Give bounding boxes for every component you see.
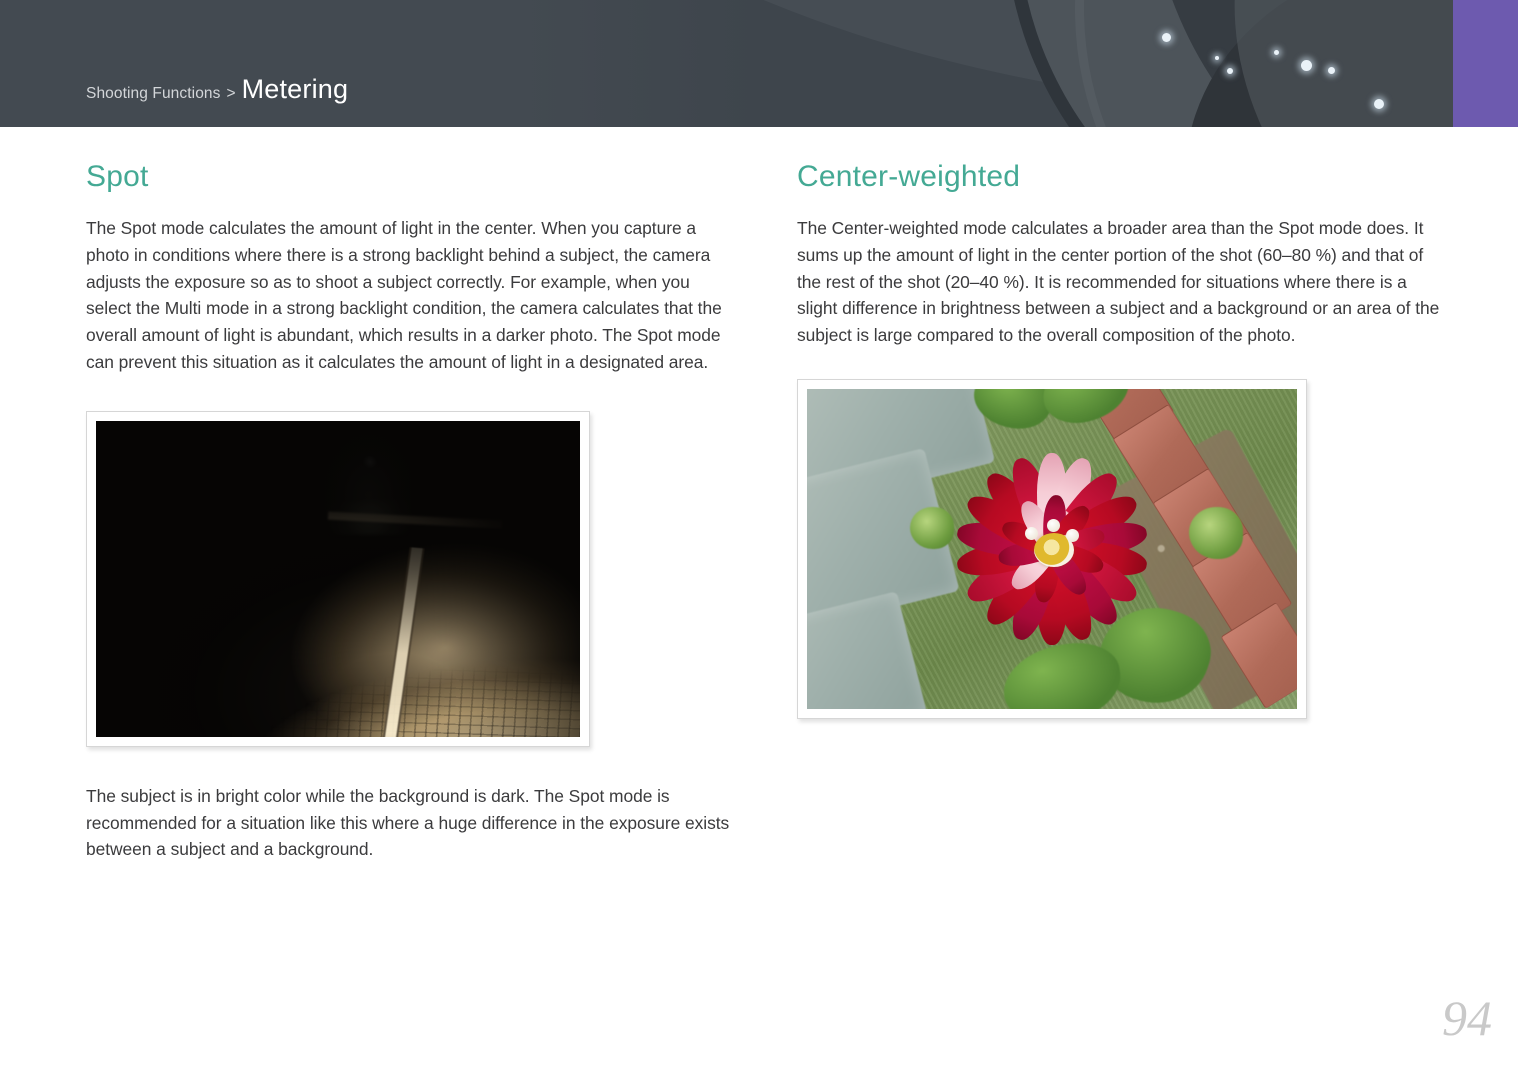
section-paragraph-center-weighted: The Center-weighted mode calculates a br… — [797, 215, 1445, 349]
header-decorative-artwork — [0, 0, 1518, 127]
page-header: Shooting Functions > Metering — [0, 0, 1518, 127]
photo-frame-spot-example — [86, 411, 590, 747]
breadcrumb-separator-icon: > — [227, 85, 236, 103]
page-number: 94 — [1442, 989, 1492, 1047]
photo-frame-center-weighted-example — [797, 379, 1307, 719]
photo-detail-flower-nub — [1047, 519, 1060, 532]
photo-detail-flower-center — [1034, 533, 1074, 567]
photo-caption-spot: The subject is in bright color while the… — [86, 783, 739, 863]
section-title-spot: Spot — [86, 160, 739, 193]
header-accent-block — [1453, 0, 1518, 127]
section-title-center-weighted: Center-weighted — [797, 160, 1450, 193]
column-spot: Spot The Spot mode calculates the amount… — [86, 160, 739, 863]
column-center-weighted: Center-weighted The Center-weighted mode… — [797, 160, 1450, 719]
breadcrumb: Shooting Functions > Metering — [86, 74, 348, 105]
photo-night-cobblestone-path — [96, 421, 580, 737]
photo-detail-flower-nub — [1066, 529, 1079, 542]
photo-detail-flower-nub — [1025, 527, 1038, 540]
header-gradient-overlay — [0, 0, 1518, 127]
photo-detail-flower-bud — [910, 507, 954, 549]
photo-dahlia-flower-garden — [807, 389, 1297, 709]
page-body: Spot The Spot mode calculates the amount… — [0, 127, 1518, 1075]
photo-detail-flower-bud — [1189, 507, 1243, 558]
breadcrumb-current-page: Metering — [242, 74, 349, 105]
photo-detail-vignette — [96, 421, 580, 737]
breadcrumb-parent[interactable]: Shooting Functions — [86, 85, 221, 103]
section-paragraph-spot: The Spot mode calculates the amount of l… — [86, 215, 739, 376]
